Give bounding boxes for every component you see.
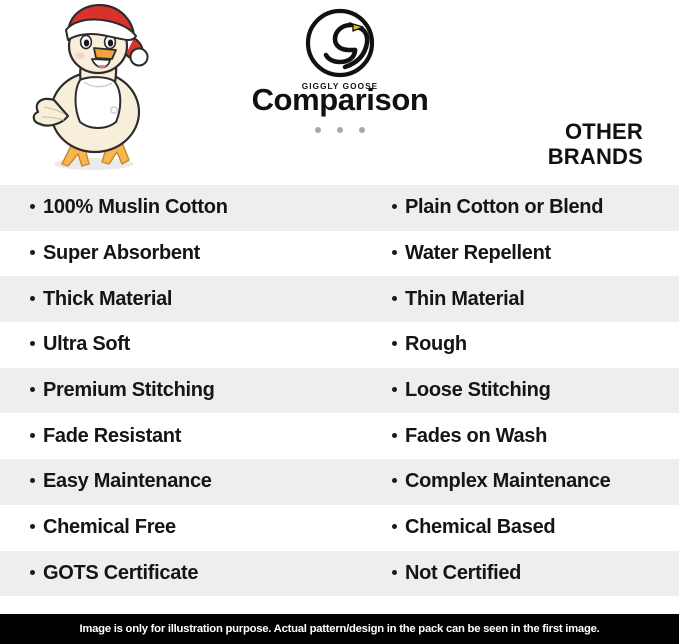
giggly-goose-feature-cell: 100% Muslin Cotton [0,196,362,219]
other-brands-feature-cell: Complex Maintenance [362,470,679,493]
bullet-icon [30,250,35,255]
bullet-icon [392,204,397,209]
feature-label: Chemical Based [405,516,555,539]
bullet-icon [30,524,35,529]
feature-label: Ultra Soft [43,333,130,356]
feature-label: 100% Muslin Cotton [43,196,228,219]
bullet-icon [30,387,35,392]
other-brands-feature-cell: Loose Stitching [362,379,679,402]
table-row: 100% Muslin CottonPlain Cotton or Blend [0,185,679,231]
title-dots-separator [180,127,500,133]
feature-label: Thin Material [405,288,524,311]
other-brands-feature-cell: Rough [362,333,679,356]
giggly-goose-logo: GIGGLY GOOSE [293,5,388,93]
table-row: Thick MaterialThin Material [0,276,679,322]
bullet-icon [392,341,397,346]
other-brands-feature-cell: Fades on Wash [362,425,679,448]
bullet-icon [30,204,35,209]
bullet-icon [392,478,397,483]
feature-label: Chemical Free [43,516,176,539]
table-row: Fade ResistantFades on Wash [0,413,679,459]
table-row: Chemical FreeChemical Based [0,505,679,551]
other-brands-heading: OTHER BRANDS [548,120,643,169]
bullet-icon [30,341,35,346]
bullet-icon [392,387,397,392]
header: GIGGLY GOOSE Comparison OTHER BRANDS [0,0,679,185]
giggly-goose-feature-cell: Thick Material [0,288,362,311]
bullet-icon [392,570,397,575]
giggly-goose-feature-cell: Easy Maintenance [0,470,362,493]
table-row: Premium StitchingLoose Stitching [0,368,679,414]
feature-label: Rough [405,333,467,356]
feature-label: GOTS Certificate [43,562,198,585]
bullet-icon [392,250,397,255]
title-dot [315,127,321,133]
feature-label: Thick Material [43,288,172,311]
other-brands-feature-cell: Chemical Based [362,516,679,539]
feature-label: Not Certified [405,562,521,585]
bullet-icon [392,433,397,438]
feature-label: Fade Resistant [43,425,181,448]
giggly-goose-feature-cell: Super Absorbent [0,242,362,265]
bullet-icon [30,433,35,438]
title-dot [359,127,365,133]
bullet-icon [392,524,397,529]
comparison-table: 100% Muslin CottonPlain Cotton or BlendS… [0,185,679,596]
table-row: Easy MaintenanceComplex Maintenance [0,459,679,505]
page-title: Comparison [180,84,500,115]
comparison-infographic: GIGGLY GOOSE Comparison OTHER BRANDS 100… [0,0,679,644]
giggly-goose-feature-cell: Premium Stitching [0,379,362,402]
giggly-goose-feature-cell: GOTS Certificate [0,562,362,585]
bullet-icon [392,296,397,301]
other-brands-feature-cell: Water Repellent [362,242,679,265]
other-brands-feature-cell: Thin Material [362,288,679,311]
feature-label: Loose Stitching [405,379,551,402]
other-brands-feature-cell: Plain Cotton or Blend [362,196,679,219]
table-row: Ultra SoftRough [0,322,679,368]
feature-label: Plain Cotton or Blend [405,196,603,219]
bullet-icon [30,478,35,483]
giggly-goose-feature-cell: Chemical Free [0,516,362,539]
table-row: Super AbsorbentWater Repellent [0,231,679,277]
feature-label: Water Repellent [405,242,551,265]
other-brands-feature-cell: Not Certified [362,562,679,585]
giggly-goose-feature-cell: Ultra Soft [0,333,362,356]
disclaimer-bar: Image is only for illustration purpose. … [0,614,679,644]
bullet-icon [30,296,35,301]
feature-label: Super Absorbent [43,242,200,265]
feature-label: Premium Stitching [43,379,215,402]
feature-label: Easy Maintenance [43,470,212,493]
feature-label: Complex Maintenance [405,470,610,493]
table-row: GOTS CertificateNot Certified [0,551,679,597]
feature-label: Fades on Wash [405,425,547,448]
title-dot [337,127,343,133]
bullet-icon [30,570,35,575]
giggly-goose-feature-cell: Fade Resistant [0,425,362,448]
disclaimer-text: Image is only for illustration purpose. … [79,623,599,635]
goose-mascot-illustration [22,4,167,176]
